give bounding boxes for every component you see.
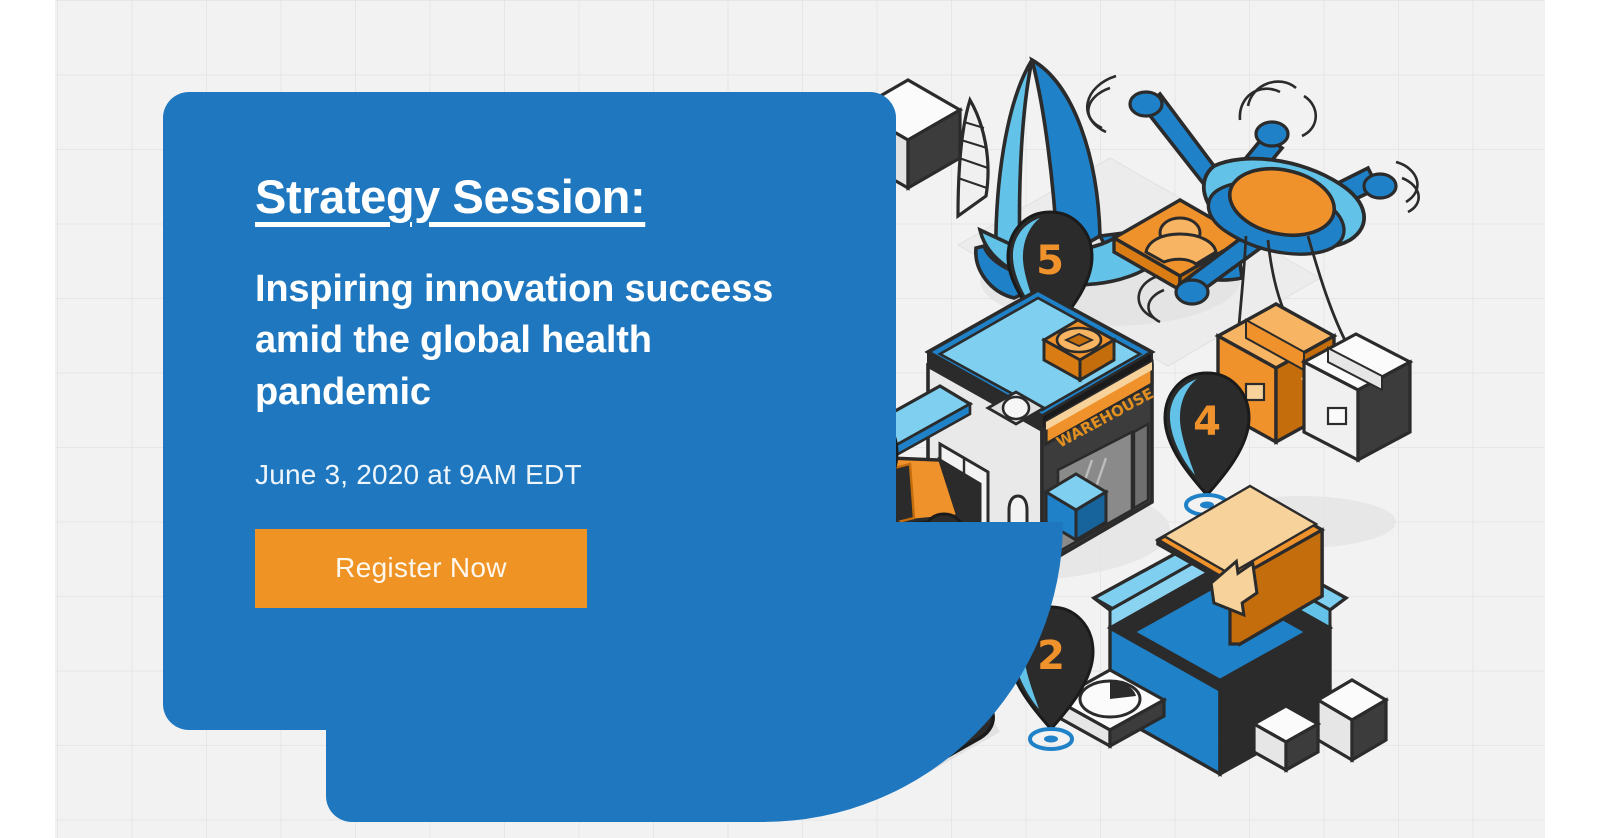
map-pin-2-number: 2 xyxy=(1037,633,1065,679)
banner-canvas: 5 xyxy=(0,0,1600,838)
map-pin-4-number: 4 xyxy=(1193,399,1221,445)
register-now-button[interactable]: Register Now xyxy=(255,529,587,608)
promo-panel-bulge-fill xyxy=(326,592,766,822)
promo-content: Strategy Session: Inspiring innovation s… xyxy=(255,172,825,608)
event-datetime: June 3, 2020 at 9AM EDT xyxy=(255,459,825,491)
map-pin-5-number: 5 xyxy=(1036,238,1064,284)
wave-fin-hatched xyxy=(958,100,988,216)
page-title: Inspiring innovation success amid the gl… xyxy=(255,264,815,419)
session-eyebrow: Strategy Session: xyxy=(255,172,825,222)
